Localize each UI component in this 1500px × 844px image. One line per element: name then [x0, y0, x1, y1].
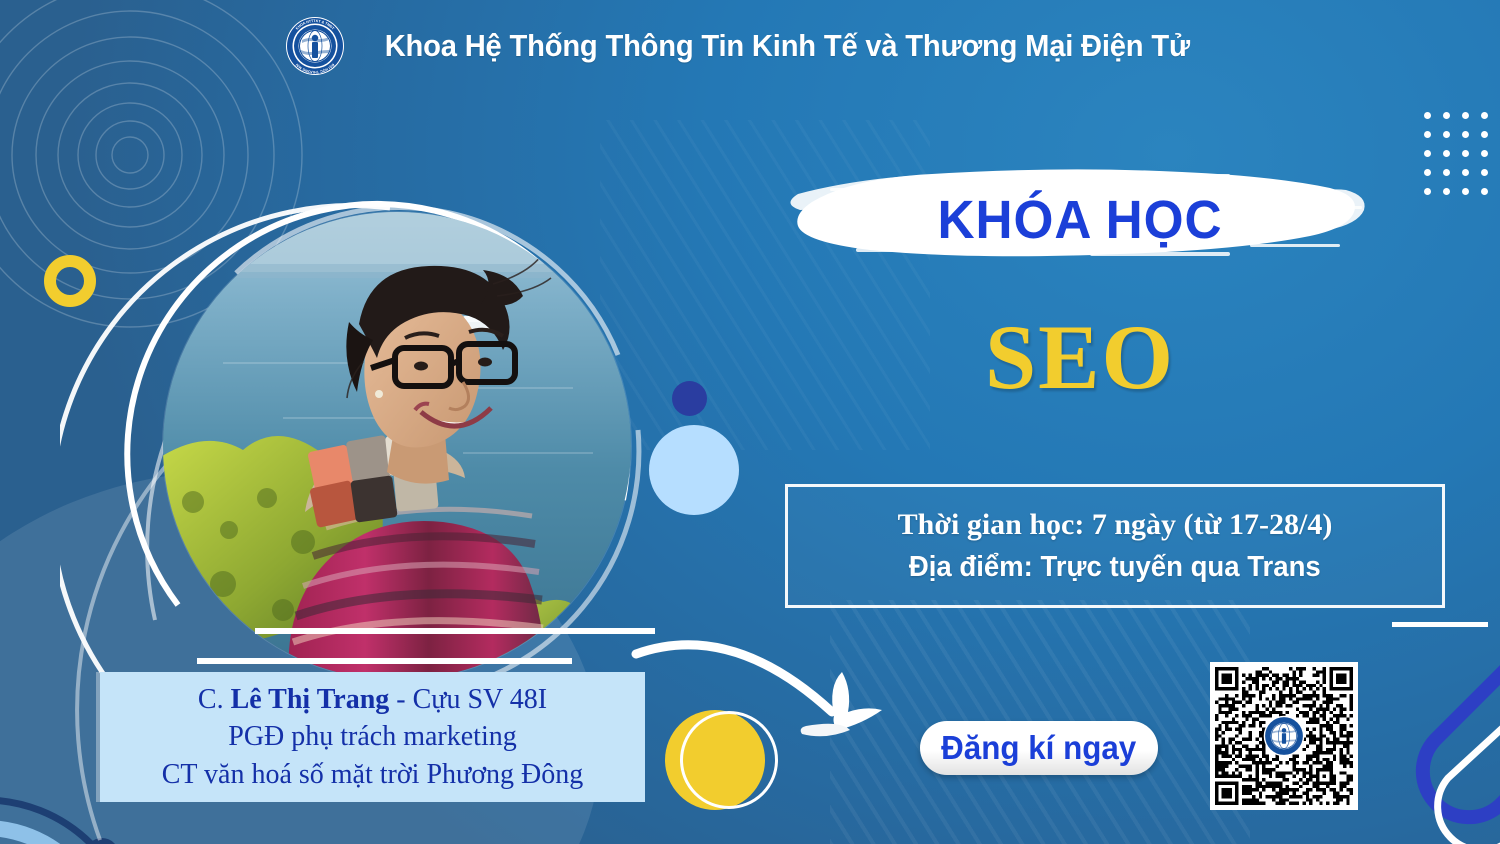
faculty-seal-icon [1263, 715, 1305, 757]
schedule-box: Thời gian học: 7 ngày (từ 17-28/4) Địa đ… [785, 484, 1445, 608]
course-banner: KHÓA HỌC [790, 148, 1370, 288]
dot-grid-shape [1424, 106, 1500, 201]
poster-canvas: KHOA HTTTKT & TMĐT ĐẠI HỌC THƯƠNG MẠI Kh… [0, 0, 1500, 844]
decor-white-line-2 [197, 658, 572, 664]
header-bar: KHOA HTTTKT & TMĐT ĐẠI HỌC THƯƠNG MẠI Kh… [0, 0, 1500, 92]
speaker-portrait-photo [118, 175, 678, 735]
decor-white-line-1 [255, 628, 655, 634]
speaker-suffix: - Cựu SV 48I [389, 684, 547, 715]
qr-code-icon[interactable] [1210, 662, 1358, 810]
course-banner-label: KHÓA HỌC [805, 148, 1356, 288]
page-title: Khoa Hệ Thống Thông Tin Kinh Tế và Thươn… [384, 28, 1189, 64]
speaker-role-line: PGĐ phụ trách marketing [228, 718, 517, 755]
speaker-info-box: C. Lê Thị Trang - Cựu SV 48I PGĐ phụ trá… [100, 672, 645, 802]
schedule-duration: Thời gian học: 7 ngày (từ 17-28/4) [898, 508, 1333, 542]
schedule-location: Địa điểm: Trực tuyến qua Trans [909, 551, 1321, 584]
course-name: SEO [790, 302, 1370, 412]
register-button[interactable]: Đăng kí ngay [920, 721, 1158, 775]
faculty-seal-icon: KHOA HTTTKT & TMĐT ĐẠI HỌC THƯƠNG MẠI [285, 16, 345, 76]
speaker-name: Lê Thị Trang [231, 684, 390, 715]
register-button-label: Đăng kí ngay [941, 729, 1136, 767]
curved-arrow-icon [630, 620, 910, 760]
top-right-white-line [1392, 622, 1488, 627]
speaker-company-line: CT văn hoá số mặt trời Phương Đông [162, 756, 583, 793]
speaker-prefix: C. [198, 684, 231, 715]
speaker-name-line: C. Lê Thị Trang - Cựu SV 48I [198, 681, 547, 718]
portrait-image [163, 212, 631, 680]
